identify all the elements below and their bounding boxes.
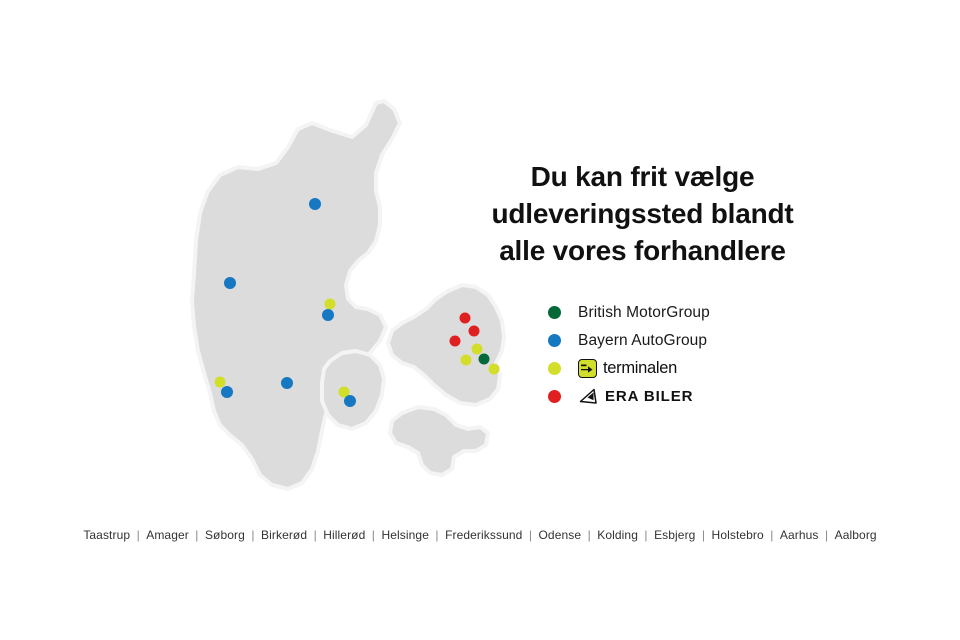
landmass-funen <box>322 351 384 429</box>
map-marker-esbjerg[interactable]: Esbjerg — Bayern AutoGroup <box>221 386 233 398</box>
map-marker-aalborg[interactable]: Aalborg — Bayern AutoGroup <box>309 198 321 210</box>
headline-line-2: udleveringssted blandt <box>470 195 815 232</box>
landmass-jutland <box>192 101 400 489</box>
city-separator: | <box>131 528 145 542</box>
city-name: Birkerød <box>260 528 308 542</box>
city-list: Taastrup | Amager | Søborg | Birkerød | … <box>0 528 960 542</box>
city-separator: | <box>366 528 380 542</box>
map-marker-kolding[interactable]: Kolding — Bayern AutoGroup <box>281 377 293 389</box>
era-biler-wordmark: ERA BILER <box>605 388 693 405</box>
infographic-root: Aalborg — Bayern AutoGroupHolstebro — Ba… <box>0 0 960 640</box>
legend-item-era-biler[interactable]: ERA BILER <box>548 384 808 409</box>
terminalen-wordmark: terminalen <box>603 359 677 378</box>
map-marker-frederikssund[interactable]: Frederikssund — ERA BILER <box>450 336 461 347</box>
city-name: Aarhus <box>779 528 820 542</box>
city-name: Helsinge <box>380 528 430 542</box>
city-name: Søborg <box>204 528 246 542</box>
legend-item-terminalen[interactable]: terminalen <box>548 356 808 381</box>
city-separator: | <box>765 528 779 542</box>
denmark-map: Aalborg — Bayern AutoGroupHolstebro — Ba… <box>180 95 520 505</box>
city-name: Holstebro <box>711 528 765 542</box>
map-marker-amager[interactable]: Amager — terminalen <box>489 364 500 375</box>
city-name: Frederikssund <box>444 528 523 542</box>
map-marker-odense[interactable]: Odense — Bayern AutoGroup <box>344 395 356 407</box>
legend-item-british-motorgroup[interactable]: British MotorGroup <box>548 300 808 325</box>
terminalen-mark-icon <box>578 359 597 378</box>
landmass-zealand <box>388 285 504 405</box>
city-name: Taastrup <box>82 528 131 542</box>
brand-legend: British MotorGroup Bayern AutoGroup term… <box>548 300 808 412</box>
terminalen-logo: terminalen <box>578 359 677 378</box>
city-name: Hillerød <box>322 528 366 542</box>
legend-item-bayern-autogroup[interactable]: Bayern AutoGroup <box>548 328 808 353</box>
legend-swatch-green-icon <box>548 306 561 319</box>
map-marker-soborg[interactable]: Søborg — British MotorGroup <box>479 354 490 365</box>
map-marker-helsinge[interactable]: Helsinge — ERA BILER <box>460 313 471 324</box>
city-separator: | <box>582 528 596 542</box>
city-separator: | <box>308 528 322 542</box>
city-name: Odense <box>538 528 583 542</box>
landmass-lolland-falster <box>390 407 488 475</box>
map-marker-taastrup[interactable]: Taastrup — terminalen <box>461 355 472 366</box>
era-biler-logo: ERA BILER <box>578 388 693 405</box>
city-separator: | <box>246 528 260 542</box>
map-landmasses <box>192 101 504 489</box>
city-name: Esbjerg <box>653 528 696 542</box>
legend-swatch-red-icon <box>548 390 561 403</box>
map-marker-holstebro[interactable]: Holstebro — Bayern AutoGroup <box>224 277 236 289</box>
city-separator: | <box>190 528 204 542</box>
era-biler-mark-icon <box>578 388 600 405</box>
headline-line-1: Du kan frit vælge <box>470 158 815 195</box>
city-separator: | <box>523 528 537 542</box>
city-separator: | <box>639 528 653 542</box>
map-marker-esbjerg[interactable]: Esbjerg — terminalen <box>215 377 226 388</box>
city-separator: | <box>820 528 834 542</box>
map-svg: Aalborg — Bayern AutoGroupHolstebro — Ba… <box>180 95 520 505</box>
city-name: Amager <box>145 528 190 542</box>
legend-swatch-blue-icon <box>548 334 561 347</box>
city-name: Kolding <box>596 528 639 542</box>
map-marker-birkerod[interactable]: Birkerød — terminalen <box>472 344 483 355</box>
legend-label-bayern-autogroup: Bayern AutoGroup <box>578 332 707 350</box>
headline-line-3: alle vores forhandlere <box>470 232 815 269</box>
legend-swatch-yellow-icon <box>548 362 561 375</box>
legend-label-british-motorgroup: British MotorGroup <box>578 304 710 322</box>
city-separator: | <box>430 528 444 542</box>
map-marker-aarhus[interactable]: Aarhus — Bayern AutoGroup <box>322 309 334 321</box>
map-marker-aarhus[interactable]: Aarhus — terminalen <box>325 299 336 310</box>
city-separator: | <box>696 528 710 542</box>
map-marker-hillerod[interactable]: Hillerød — ERA BILER <box>469 326 480 337</box>
page-title: Du kan frit vælge udleveringssted blandt… <box>470 158 815 270</box>
city-name: Aalborg <box>834 528 878 542</box>
